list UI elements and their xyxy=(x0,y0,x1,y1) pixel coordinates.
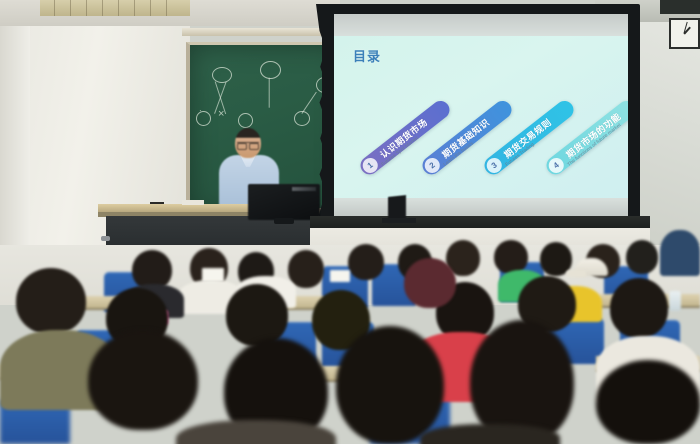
monitor-logo xyxy=(292,187,316,191)
clock-face xyxy=(671,20,698,47)
glasses-icon xyxy=(237,142,259,148)
monitor-stand xyxy=(274,218,294,224)
projector-screen-frame: 目录 1 认识期货市场 Futures Spot Market 2 期货基础知识… xyxy=(322,4,640,228)
audience-head-foreground xyxy=(88,330,198,430)
lecture-hall-photo: × · 目录 1 认识期货市场 Futures Spot Market xyxy=(0,0,700,444)
audience-head xyxy=(226,284,288,346)
audience-head-foreground xyxy=(596,360,700,444)
presentation-slide: 目录 1 认识期货市场 Futures Spot Market 2 期货基础知识… xyxy=(334,36,628,198)
agenda-number-1: 1 xyxy=(359,155,380,176)
standing-person-torso xyxy=(660,230,700,276)
audience-head xyxy=(626,240,658,274)
agenda-label-2: 期货基础知识 xyxy=(439,116,492,161)
desk-pen xyxy=(150,202,164,204)
audience-head-burgundy xyxy=(404,258,456,308)
agenda-number-3: 3 xyxy=(483,155,504,176)
agenda-label-4: 期货市场的功能 xyxy=(563,110,623,161)
projector-screen: 目录 1 认识期货市场 Futures Spot Market 2 期货基础知识… xyxy=(334,14,628,216)
lectern-handle xyxy=(101,236,110,241)
screen-bottom-band xyxy=(334,198,628,216)
desktop-monitor xyxy=(248,184,320,220)
agenda-label-1: 认识期货市场 xyxy=(377,116,430,161)
slide-title: 目录 xyxy=(353,46,381,65)
audience-torso-foreground xyxy=(420,424,560,444)
paper-sheet xyxy=(330,270,350,282)
screen-top-band xyxy=(334,14,628,36)
paper-sheet xyxy=(202,268,224,282)
desk-paper xyxy=(182,200,204,205)
agenda-number-2: 2 xyxy=(421,155,442,176)
agenda-label-3: 期货交易规则 xyxy=(501,116,554,161)
audience-head xyxy=(348,244,384,280)
ceiling-shadow xyxy=(660,0,700,14)
audience-head-foreground xyxy=(336,326,444,444)
audience-head xyxy=(16,268,86,334)
ceiling-panel xyxy=(40,0,190,16)
board-rail xyxy=(182,28,342,36)
agenda-number-4: 4 xyxy=(545,155,566,176)
audience-head xyxy=(494,240,528,274)
left-wall-trim xyxy=(0,0,30,245)
water-bottle xyxy=(669,291,681,311)
cap-brim xyxy=(566,270,586,277)
wall-clock xyxy=(669,18,700,49)
audience-head xyxy=(610,278,668,338)
audience-head xyxy=(288,250,324,288)
laptop-base xyxy=(382,218,416,223)
